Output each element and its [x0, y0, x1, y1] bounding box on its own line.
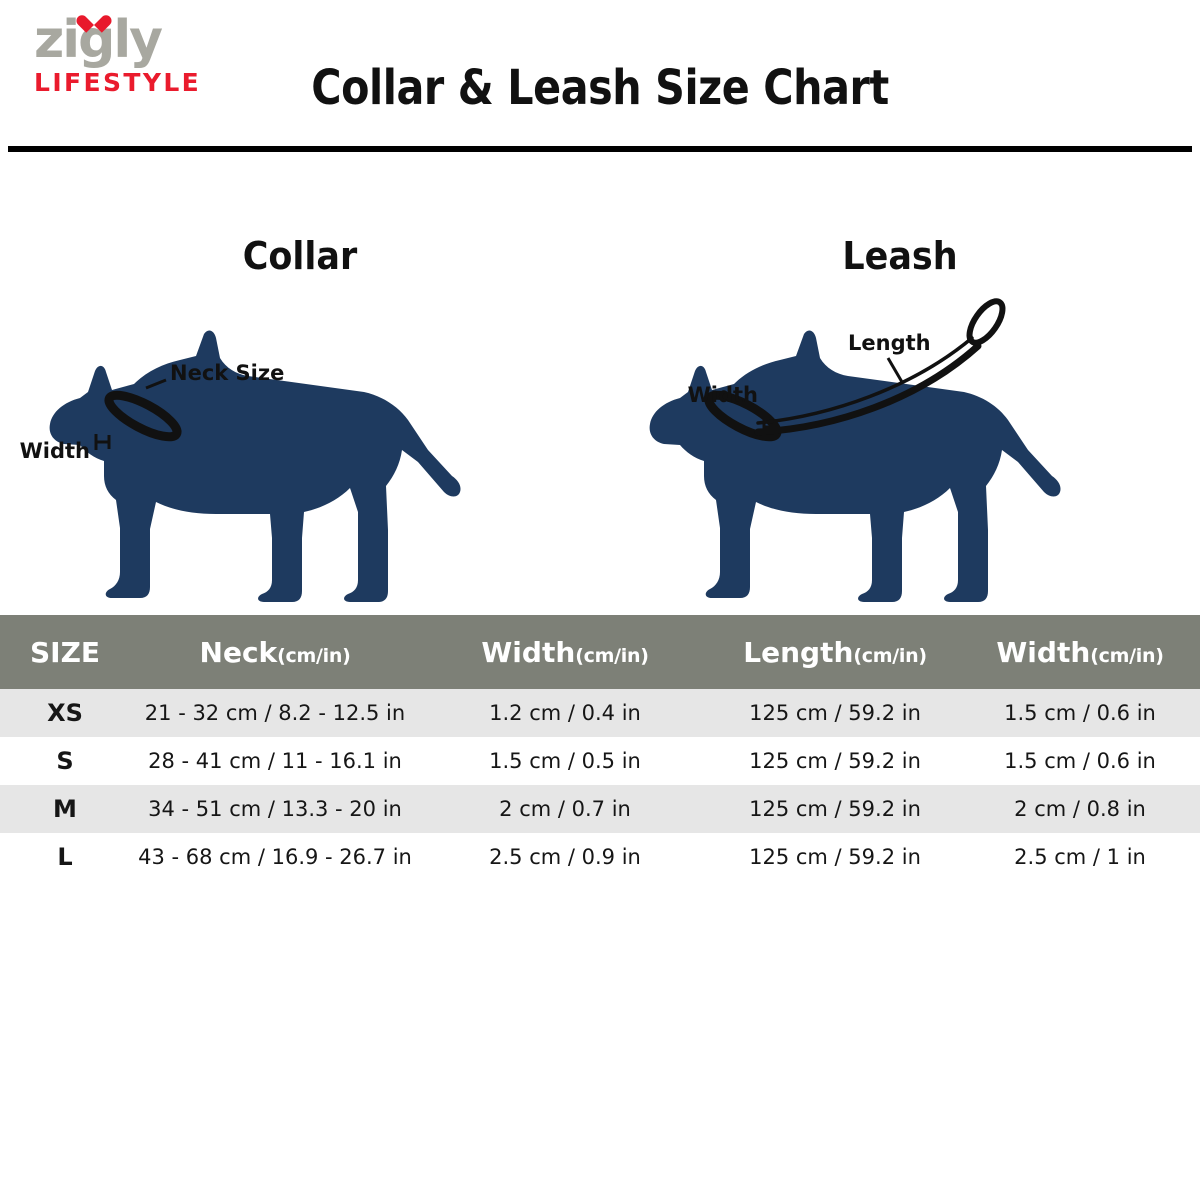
- cell-collar-width: 2 cm / 0.7 in: [420, 785, 710, 833]
- column-header-neck-unit: (cm/in): [277, 645, 350, 667]
- page-header: zigly LIFESTYLE Collar & Leash Size Char…: [0, 0, 1200, 150]
- leash-width-label: Width: [688, 383, 758, 407]
- cell-neck: 43 - 68 cm / 16.9 - 26.7 in: [130, 833, 420, 881]
- collar-diagram: Collar Neck Size Width: [20, 152, 580, 612]
- cell-collar-width: 2.5 cm / 0.9 in: [420, 833, 710, 881]
- column-header-collar-width: Width(cm/in): [420, 615, 710, 689]
- column-header-collar-width-unit: (cm/in): [575, 645, 648, 667]
- column-header-neck-label: Neck: [200, 636, 278, 669]
- table-row: XS 21 - 32 cm / 8.2 - 12.5 in 1.2 cm / 0…: [0, 689, 1200, 737]
- size-chart-table: SIZE Neck(cm/in) Width(cm/in) Length(cm/…: [0, 615, 1200, 881]
- table-header-row: SIZE Neck(cm/in) Width(cm/in) Length(cm/…: [0, 615, 1200, 689]
- cell-size: M: [0, 785, 130, 833]
- cell-collar-width: 1.5 cm / 0.5 in: [420, 737, 710, 785]
- cell-leash-length: 125 cm / 59.2 in: [710, 737, 960, 785]
- table-row: L 43 - 68 cm / 16.9 - 26.7 in 2.5 cm / 0…: [0, 833, 1200, 881]
- table-row: M 34 - 51 cm / 13.3 - 20 in 2 cm / 0.7 i…: [0, 785, 1200, 833]
- leash-diagram-title: Leash: [642, 234, 1157, 278]
- column-header-neck: Neck(cm/in): [130, 615, 420, 689]
- cell-leash-length: 125 cm / 59.2 in: [710, 833, 960, 881]
- column-header-size-label: SIZE: [30, 636, 100, 669]
- cell-leash-width: 1.5 cm / 0.6 in: [960, 737, 1200, 785]
- cell-size: XS: [0, 689, 130, 737]
- column-header-leash-length-label: Length: [743, 636, 853, 669]
- collar-diagram-title: Collar: [42, 234, 557, 278]
- size-chart-page: zigly LIFESTYLE Collar & Leash Size Char…: [0, 0, 1200, 1200]
- column-header-leash-length: Length(cm/in): [710, 615, 960, 689]
- column-header-leash-width-label: Width: [996, 636, 1090, 669]
- leash-length-label: Length: [848, 331, 931, 355]
- cell-leash-length: 125 cm / 59.2 in: [710, 785, 960, 833]
- heart-icon: [83, 8, 105, 28]
- column-header-size: SIZE: [0, 615, 130, 689]
- column-header-leash-length-unit: (cm/in): [853, 645, 926, 667]
- table-body: XS 21 - 32 cm / 8.2 - 12.5 in 1.2 cm / 0…: [0, 689, 1200, 881]
- cell-size: S: [0, 737, 130, 785]
- cell-neck: 34 - 51 cm / 13.3 - 20 in: [130, 785, 420, 833]
- cell-leash-length: 125 cm / 59.2 in: [710, 689, 960, 737]
- collar-illustration: Neck Size Width: [20, 280, 580, 610]
- table-header: SIZE Neck(cm/in) Width(cm/in) Length(cm/…: [0, 615, 1200, 689]
- collar-width-label: Width: [20, 439, 90, 463]
- leash-handle-loop: [963, 296, 1009, 348]
- cell-leash-width: 1.5 cm / 0.6 in: [960, 689, 1200, 737]
- table-row: S 28 - 41 cm / 11 - 16.1 in 1.5 cm / 0.5…: [0, 737, 1200, 785]
- cell-size: L: [0, 833, 130, 881]
- leash-illustration: Length Width: [620, 280, 1180, 610]
- page-title: Collar & Leash Size Chart: [84, 60, 1116, 116]
- diagram-section: Collar Neck Size Width Leash: [0, 152, 1200, 612]
- neck-size-label: Neck Size: [170, 361, 284, 385]
- column-header-leash-width: Width(cm/in): [960, 615, 1200, 689]
- cell-neck: 28 - 41 cm / 11 - 16.1 in: [130, 737, 420, 785]
- cell-leash-width: 2 cm / 0.8 in: [960, 785, 1200, 833]
- column-header-collar-width-label: Width: [481, 636, 575, 669]
- length-leader: [888, 358, 902, 382]
- column-header-leash-width-unit: (cm/in): [1090, 645, 1163, 667]
- cell-neck: 21 - 32 cm / 8.2 - 12.5 in: [130, 689, 420, 737]
- dog-silhouette: [650, 331, 1061, 602]
- cell-collar-width: 1.2 cm / 0.4 in: [420, 689, 710, 737]
- leash-diagram: Leash Length: [620, 152, 1180, 612]
- cell-leash-width: 2.5 cm / 1 in: [960, 833, 1200, 881]
